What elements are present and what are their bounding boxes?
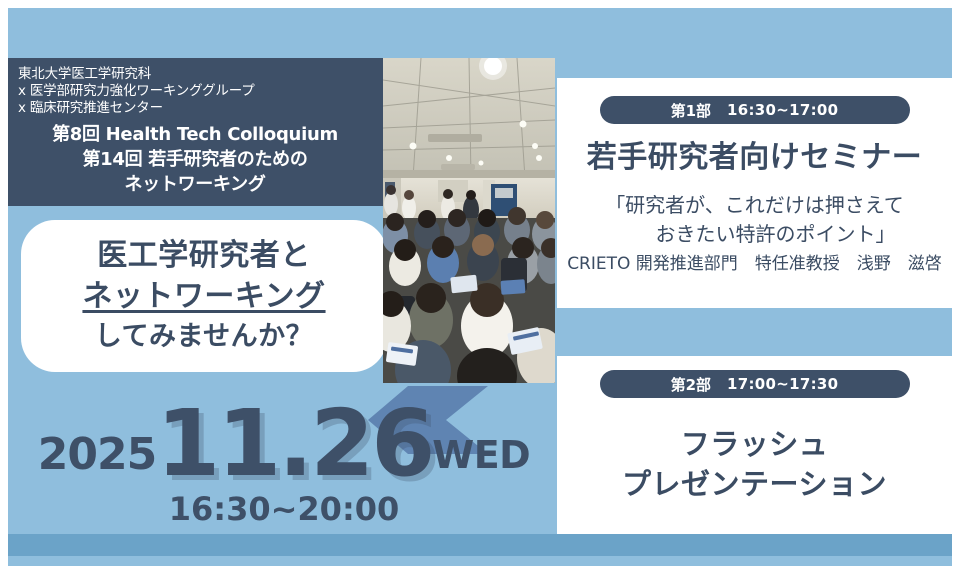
organizer-line-1: 東北大学医工学研究科 (18, 66, 386, 83)
tagline-line-1: 医工学研究者と (97, 236, 311, 276)
session-quote-line-1: 「研究者が、これだけは押さえて (605, 193, 904, 217)
tagline-line-2-underlined: ネットワーキング (82, 276, 325, 318)
tagline-callout: 医工学研究者と ネットワーキング してみませんか？ (21, 220, 387, 372)
session-heading-2-line-1: フラッシュ (557, 424, 952, 464)
session-heading-2: フラッシュ プレゼンテーション (557, 424, 952, 504)
date-row: 2025 11.26 WED (8, 396, 560, 486)
organizer-lines: 東北大学医工学研究科 x 医学部研究力強化ワーキンググループ x 臨床研究推進セ… (18, 66, 386, 117)
session-time-2: 17:00~17:30 (727, 375, 838, 393)
tagline-line-3: してみませんか？ (95, 318, 313, 356)
event-title-line-3: ネットワーキング (18, 172, 372, 197)
session-card-part1: 第1部 16:30~17:00 若手研究者向けセミナー 「研究者が、これだけは押… (557, 78, 952, 308)
seminar-photo (383, 58, 555, 383)
session-part-label-2: 第2部 (671, 374, 711, 395)
session-heading-1: 若手研究者向けセミナー (557, 138, 952, 178)
session-pill-part2: 第2部 17:00~17:30 (600, 370, 910, 398)
session-quote-line-2: おきたい特許のポイント」 (571, 220, 938, 249)
session-speaker-1: CRIETO 開発推進部門 特任准教授 浅野 滋啓 (557, 252, 952, 277)
session-card-part2: 第2部 17:00~17:30 フラッシュ プレゼンテーション (557, 356, 952, 534)
event-title-line-2: 第14回 若手研究者のための (18, 147, 372, 172)
organizer-header-panel: 東北大学医工学研究科 x 医学部研究力強化ワーキンググループ x 臨床研究推進セ… (8, 58, 386, 206)
date-time-range: 16:30~20:00 (8, 490, 560, 528)
event-title: 第8回 Health Tech Colloquium 第14回 若手研究者のため… (18, 122, 386, 197)
date-monthday: 11.26 (156, 402, 432, 486)
session-heading-2-line-2: プレゼンテーション (557, 464, 952, 504)
date-year: 2025 (38, 429, 156, 486)
poster-root: 東北大学医工学研究科 x 医学部研究力強化ワーキンググループ x 臨床研究推進セ… (8, 8, 952, 566)
date-weekday: WED (432, 433, 530, 486)
organizer-line-2: x 医学部研究力強化ワーキンググループ (18, 83, 386, 100)
event-title-line-1: 第8回 Health Tech Colloquium (18, 122, 372, 147)
session-time-1: 16:30~17:00 (727, 101, 838, 119)
session-part-label-1: 第1部 (671, 100, 711, 121)
session-pill-part1: 第1部 16:30~17:00 (600, 96, 910, 124)
seminar-photo-image (383, 58, 555, 383)
bottom-band (8, 534, 952, 556)
date-block: 2025 11.26 WED 16:30~20:00 (8, 386, 560, 534)
session-quote-1: 「研究者が、これだけは押さえて おきたい特許のポイント」 (557, 191, 952, 249)
organizer-line-3: x 臨床研究推進センター (18, 100, 386, 117)
